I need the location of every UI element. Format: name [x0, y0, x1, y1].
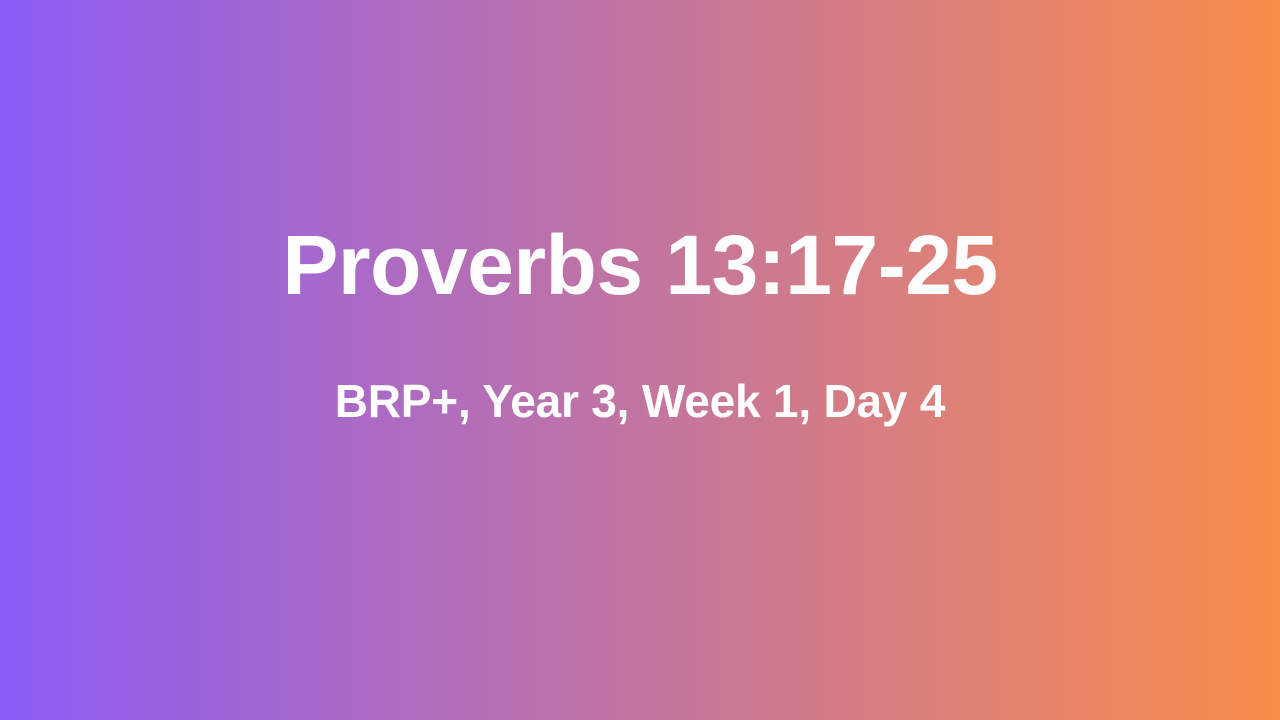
slide-subtitle: BRP+, Year 3, Week 1, Day 4 [335, 374, 945, 429]
page-title: Proverbs 13:17-25 [282, 218, 997, 312]
title-slide: Proverbs 13:17-25 BRP+, Year 3, Week 1, … [0, 0, 1280, 720]
